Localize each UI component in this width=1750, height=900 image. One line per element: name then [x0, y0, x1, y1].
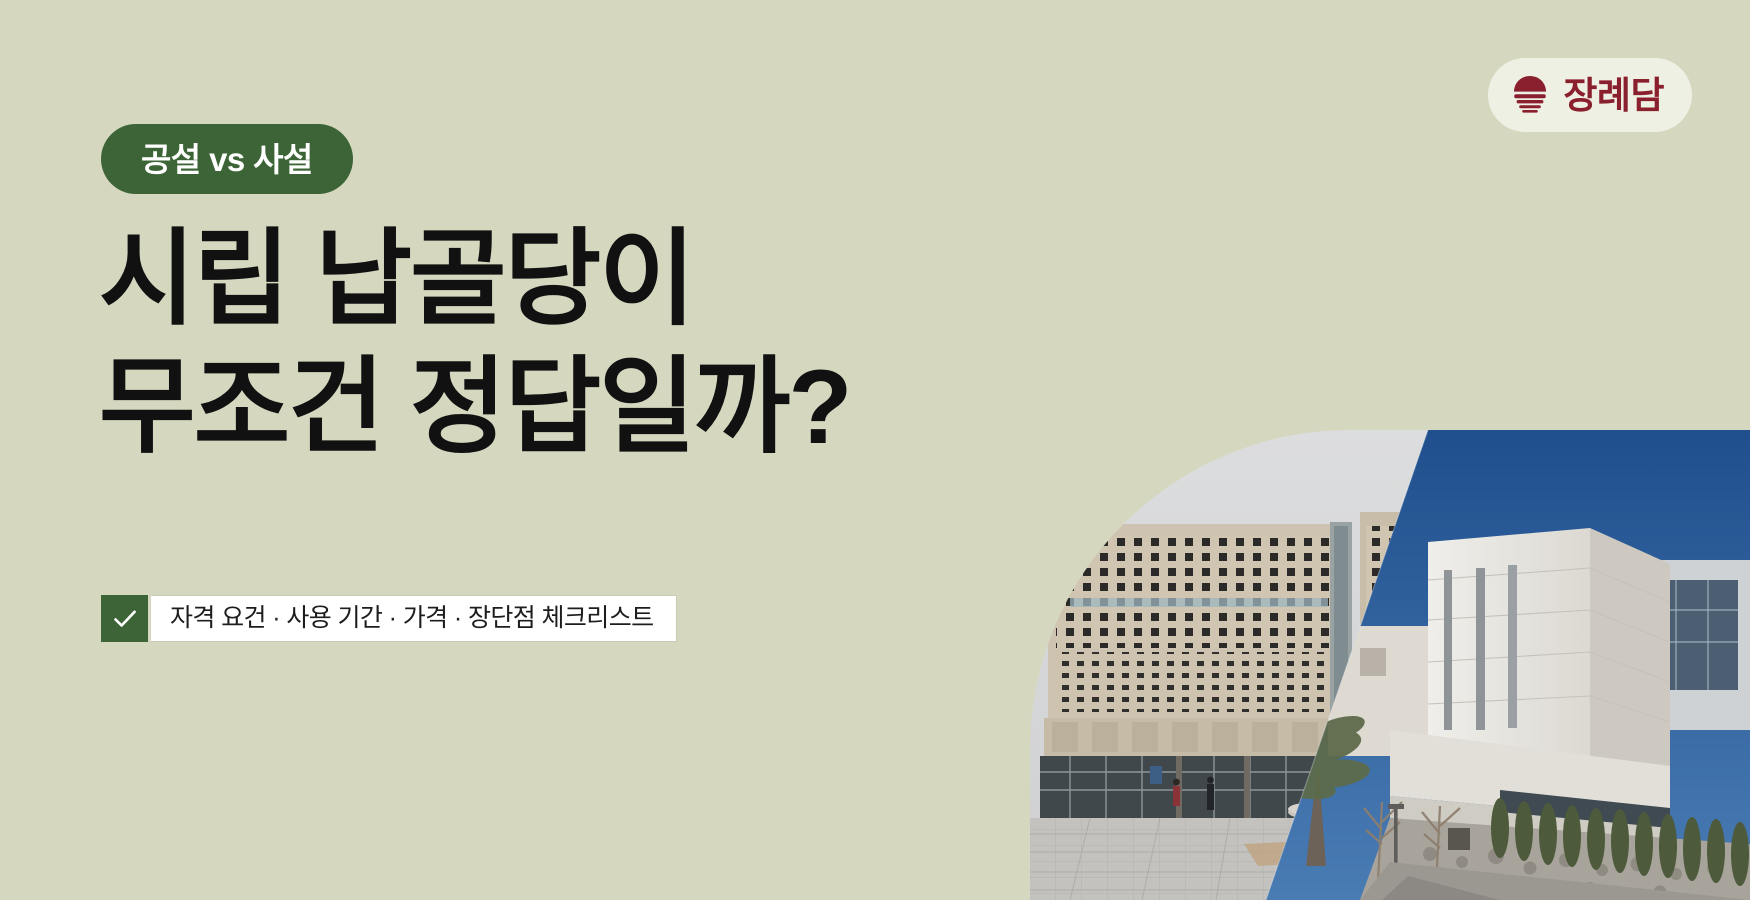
checkmark-icon: [101, 595, 148, 642]
checklist-label: 자격 요건 · 사용 기간 · 가격 · 장단점 체크리스트: [170, 606, 654, 631]
facility-photo-collage: [1030, 430, 1750, 900]
checklist-strip: 자격 요건 · 사용 기간 · 가격 · 장단점 체크리스트: [101, 595, 677, 642]
headline: 시립 납골당이 무조건 정답일까?: [99, 216, 1059, 472]
brand-name: 장례담: [1563, 77, 1664, 114]
poster-canvas: 장례담 공설 vs 사설 시립 납골당이 무조건 정답일까? 자격 요건 · 사…: [0, 0, 1750, 900]
headline-line-2: 무조건 정답일까?: [99, 344, 1059, 472]
brand-logo[interactable]: 장례담: [1488, 58, 1692, 132]
headline-line-1: 시립 납골당이: [99, 216, 1059, 344]
category-badge-label: 공설 vs 사설: [141, 143, 313, 176]
setting-sun-icon: [1510, 73, 1550, 117]
category-badge: 공설 vs 사설: [101, 124, 353, 194]
checklist-label-box: 자격 요건 · 사용 기간 · 가격 · 장단점 체크리스트: [151, 595, 677, 642]
